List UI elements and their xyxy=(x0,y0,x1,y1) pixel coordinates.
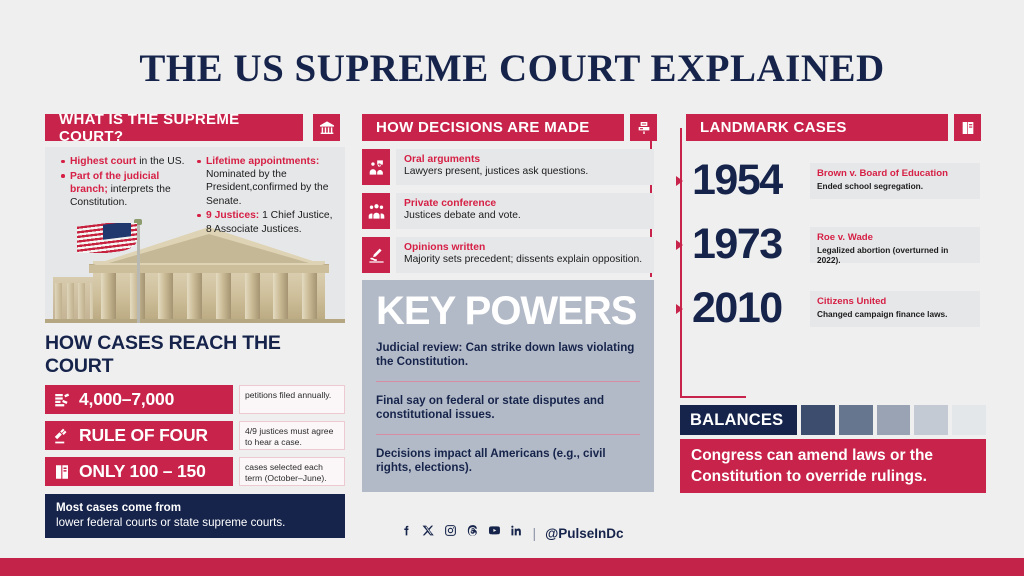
reach-note: cases selected each term (October–June). xyxy=(239,457,345,486)
ballot-box-icon xyxy=(630,114,657,141)
decision-row: Private conference Justices debate and v… xyxy=(362,193,654,229)
book-document-icon xyxy=(954,114,981,141)
landmark-case-row: 1973 Roe v. Wade Legalized abortion (ove… xyxy=(680,221,980,269)
decision-desc: Justices debate and vote. xyxy=(404,210,646,221)
landmark-case-name: Brown v. Board of Education xyxy=(817,168,973,179)
decision-text: Oral arguments Lawyers present, justices… xyxy=(396,149,654,185)
decision-desc: Majority sets precedent; dissents explai… xyxy=(404,254,646,265)
decisions-header-label: HOW DECISIONS ARE MADE xyxy=(376,119,590,136)
column-middle: HOW DECISIONS ARE MADE Oral arguments La… xyxy=(362,114,654,273)
landmark-header: LANDMARK CASES xyxy=(686,114,948,141)
threads-icon[interactable] xyxy=(466,524,479,542)
bullet-item: Part of the judicial branch; interprets … xyxy=(61,170,197,210)
key-power-item: Judicial review: Can strike down laws vi… xyxy=(376,341,640,369)
decision-title: Private conference xyxy=(404,198,646,209)
column-right: LANDMARK CASES 1954 Brown v. Board of Ed… xyxy=(680,114,980,333)
landmark-card: Roe v. Wade Legalized abortion (overturn… xyxy=(810,227,980,263)
timeline-arrow-icon xyxy=(676,240,683,250)
balances-label: BALANCES xyxy=(680,405,797,435)
most-cases-strong: Most cases come from xyxy=(56,501,334,514)
balance-swatch xyxy=(952,405,986,435)
landmark-case-summary: Ended school segregation. xyxy=(817,181,973,191)
how-cases-title: HOW CASES REACH THE COURT xyxy=(45,332,345,378)
landmark-case-name: Roe v. Wade xyxy=(817,232,973,243)
landmark-year: 1973 xyxy=(692,221,782,268)
divider xyxy=(376,434,640,435)
linkedin-icon[interactable] xyxy=(510,524,523,542)
reach-note: petitions filed annually. xyxy=(239,385,345,414)
reach-row: ONLY 100 – 150 cases selected each term … xyxy=(45,457,345,486)
decision-row: Opinions written Majority sets precedent… xyxy=(362,237,654,273)
decision-title: Opinions written xyxy=(404,242,646,253)
key-powers-panel: KEY POWERS Judicial review: Can strike d… xyxy=(362,280,654,492)
bullet-item: 9 Justices: 1 Chief Justice, 8 Associate… xyxy=(197,209,337,235)
decision-desc: Lawyers present, justices ask questions. xyxy=(404,166,646,177)
what-is-body: Highest court in the US. Part of the jud… xyxy=(45,147,345,323)
book-icon xyxy=(53,463,71,481)
landmark-header-label: LANDMARK CASES xyxy=(700,119,847,136)
decision-title: Oral arguments xyxy=(404,154,646,165)
landmark-case-row: 2010 Citizens United Changed campaign fi… xyxy=(680,285,980,333)
balance-swatch xyxy=(839,405,873,435)
timeline-line-foot xyxy=(680,396,746,398)
bullet-item: Highest court in the US. xyxy=(61,155,197,168)
balances-message: Congress can amend laws or the Constitut… xyxy=(680,439,986,493)
writing-hand-icon xyxy=(362,237,390,273)
reach-chip-cases-selected: ONLY 100 – 150 xyxy=(45,457,233,486)
balance-swatch xyxy=(877,405,911,435)
reach-label: RULE OF FOUR xyxy=(79,425,208,446)
reach-label: 4,000–7,000 xyxy=(79,389,174,410)
divider xyxy=(376,381,640,382)
what-is-header-label: WHAT IS THE SUPREME COURT? xyxy=(59,111,303,145)
reach-label: ONLY 100 – 150 xyxy=(79,461,206,482)
timeline-arrow-icon xyxy=(676,176,683,186)
bank-building-icon xyxy=(313,114,340,141)
what-is-header: WHAT IS THE SUPREME COURT? xyxy=(45,114,303,141)
landmark-card: Brown v. Board of Education Ended school… xyxy=(810,163,980,199)
bottom-accent-bar xyxy=(0,558,1024,576)
balance-swatch xyxy=(914,405,948,435)
landmark-card: Citizens United Changed campaign finance… xyxy=(810,291,980,327)
decision-row: Oral arguments Lawyers present, justices… xyxy=(362,149,654,185)
decisions-header: HOW DECISIONS ARE MADE xyxy=(362,114,624,141)
key-power-item: Decisions impact all Americans (e.g., ci… xyxy=(376,447,640,475)
balances-top-row: BALANCES xyxy=(680,405,986,435)
footer-separator: | xyxy=(532,525,536,541)
social-footer: | @PulseInDc xyxy=(0,524,1024,542)
landmark-case-summary: Changed campaign finance laws. xyxy=(817,309,973,319)
balance-swatch xyxy=(801,405,835,435)
reach-note: 4/9 justices must agree to hear a case. xyxy=(239,421,345,450)
instagram-icon[interactable] xyxy=(444,524,457,542)
conference-group-icon xyxy=(362,193,390,229)
youtube-icon[interactable] xyxy=(488,524,501,542)
reach-row: 4,000–7,000 petitions filed annually. xyxy=(45,385,345,414)
balances-section: BALANCES Congress can amend laws or the … xyxy=(680,405,986,493)
decision-text: Opinions written Majority sets precedent… xyxy=(396,237,654,273)
landmark-year: 2010 xyxy=(692,285,782,332)
page-title: THE US SUPREME COURT EXPLAINED xyxy=(0,46,1024,91)
documents-stack-icon xyxy=(53,391,71,409)
american-flag-icon xyxy=(77,223,137,253)
key-power-item: Final say on federal or state disputes a… xyxy=(376,394,640,422)
timeline-arrow-icon xyxy=(676,304,683,314)
infographic-page: THE US SUPREME COURT EXPLAINED WHAT IS T… xyxy=(0,0,1024,576)
reach-chip-petitions: 4,000–7,000 xyxy=(45,385,233,414)
people-speaking-icon xyxy=(362,149,390,185)
bullet-item: Lifetime appointments: Nominated by the … xyxy=(197,155,337,208)
social-handle: @PulseInDc xyxy=(545,526,623,541)
reach-row: RULE OF FOUR 4/9 justices must agree to … xyxy=(45,421,345,450)
facebook-icon[interactable] xyxy=(400,524,413,542)
what-is-bullets-left: Highest court in the US. Part of the jud… xyxy=(61,155,197,211)
landmark-year: 1954 xyxy=(692,157,782,204)
decision-text: Private conference Justices debate and v… xyxy=(396,193,654,229)
landmark-case-summary: Legalized abortion (overturned in 2022). xyxy=(817,245,973,265)
reach-chip-rule-of-four: RULE OF FOUR xyxy=(45,421,233,450)
key-powers-title: KEY POWERS xyxy=(376,290,640,332)
column-left: WHAT IS THE SUPREME COURT? xyxy=(45,114,345,538)
what-is-bullets-right: Lifetime appointments: Nominated by the … xyxy=(197,155,337,237)
landmark-case-name: Citizens United xyxy=(817,296,973,307)
gavel-icon xyxy=(53,427,71,445)
x-twitter-icon[interactable] xyxy=(422,524,435,542)
landmark-case-row: 1954 Brown v. Board of Education Ended s… xyxy=(680,157,980,205)
